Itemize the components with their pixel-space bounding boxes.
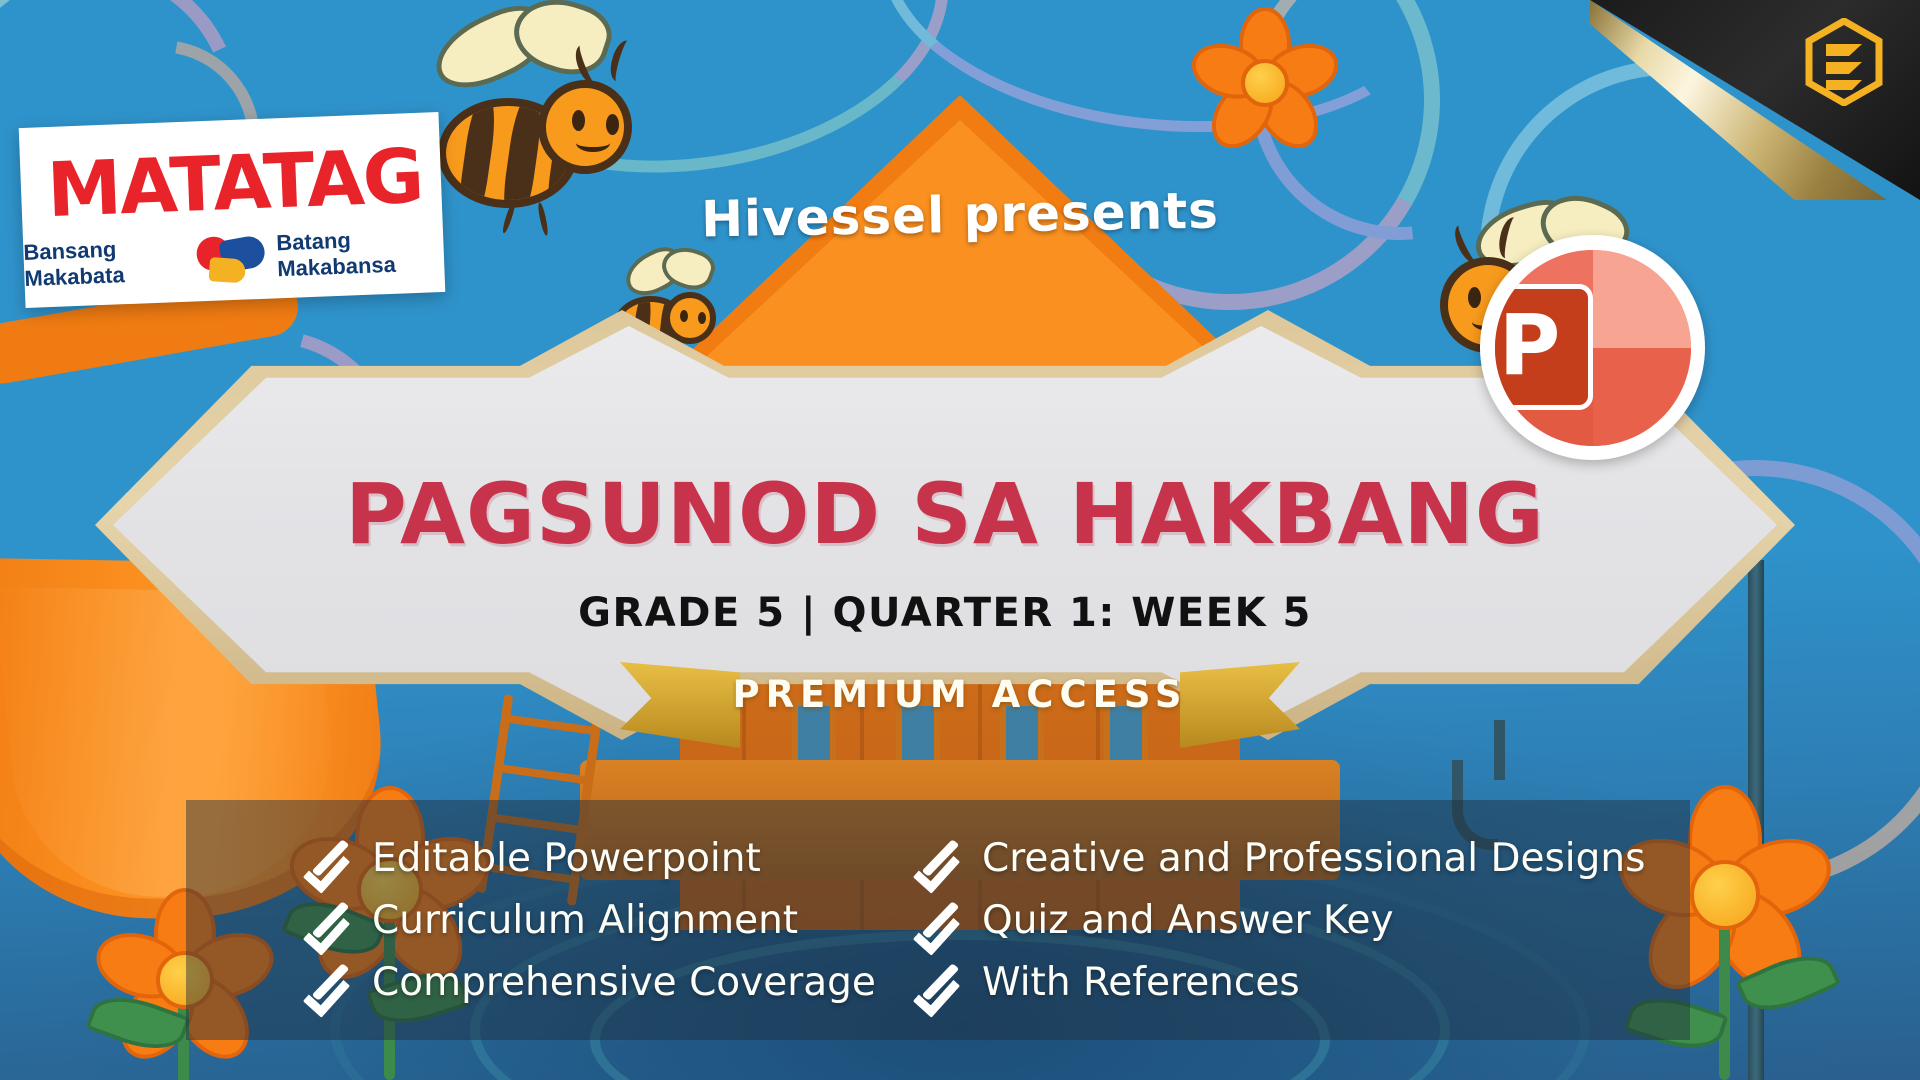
check-mark-icon: [306, 894, 358, 946]
feature-item: Creative and Professional Designs: [916, 832, 1586, 884]
feature-item: Curriculum Alignment: [306, 894, 886, 946]
feature-label: Creative and Professional Designs: [982, 836, 1645, 881]
feature-label: Editable Powerpoint: [372, 836, 761, 881]
powerpoint-tile: P: [1495, 284, 1593, 410]
features-right-column: Creative and Professional Designs Quiz a…: [886, 832, 1586, 1008]
powerpoint-letter: P: [1499, 303, 1561, 387]
slide-canvas: MATATAG Bansang Makabata Batang Makabans…: [0, 0, 1920, 1080]
matatag-wordmark: MATATAG: [46, 139, 421, 228]
feature-item: Editable Powerpoint: [306, 832, 886, 884]
check-mark-icon: [916, 894, 968, 946]
matatag-tagline-left: Bansang Makabata: [23, 234, 192, 292]
feature-item: With References: [916, 956, 1586, 1008]
check-mark-icon: [306, 832, 358, 884]
check-mark-icon: [916, 832, 968, 884]
grade-quarter-week-subtitle: GRADE 5 | QUARTER 1: WEEK 5: [578, 590, 1312, 636]
feature-label: Comprehensive Coverage: [372, 960, 876, 1005]
feature-label: Curriculum Alignment: [372, 898, 798, 943]
premium-access-label: PREMIUM ACCESS: [732, 673, 1187, 716]
premium-access-ribbon: PREMIUM ACCESS: [620, 640, 1300, 770]
bee-large-top-left: [410, 10, 650, 230]
microsoft-powerpoint-icon: P: [1480, 235, 1705, 460]
feature-label: Quiz and Answer Key: [982, 898, 1394, 943]
presenter-label: Hivessel presents: [701, 181, 1220, 248]
check-mark-icon: [916, 956, 968, 1008]
feature-item: Quiz and Answer Key: [916, 894, 1586, 946]
feature-label: With References: [982, 960, 1300, 1005]
matatag-tagline: Bansang Makabata Batang Makabansa: [23, 224, 445, 292]
hivessel-hexagon-logo-icon: [1804, 18, 1884, 106]
page-title: PAGSUNOD SA HAKBANG: [345, 472, 1545, 556]
check-mark-icon: [306, 956, 358, 1008]
clasped-hands-icon: [196, 233, 272, 284]
matatag-tagline-right: Batang Makabansa: [276, 224, 445, 282]
features-overlay: Editable Powerpoint Curriculum Alignment…: [186, 800, 1690, 1040]
feature-item: Comprehensive Coverage: [306, 956, 886, 1008]
features-left-column: Editable Powerpoint Curriculum Alignment…: [186, 832, 886, 1008]
matatag-logo: MATATAG Bansang Makabata Batang Makabans…: [19, 112, 446, 308]
ribbon-banner: PREMIUM ACCESS: [692, 640, 1228, 748]
